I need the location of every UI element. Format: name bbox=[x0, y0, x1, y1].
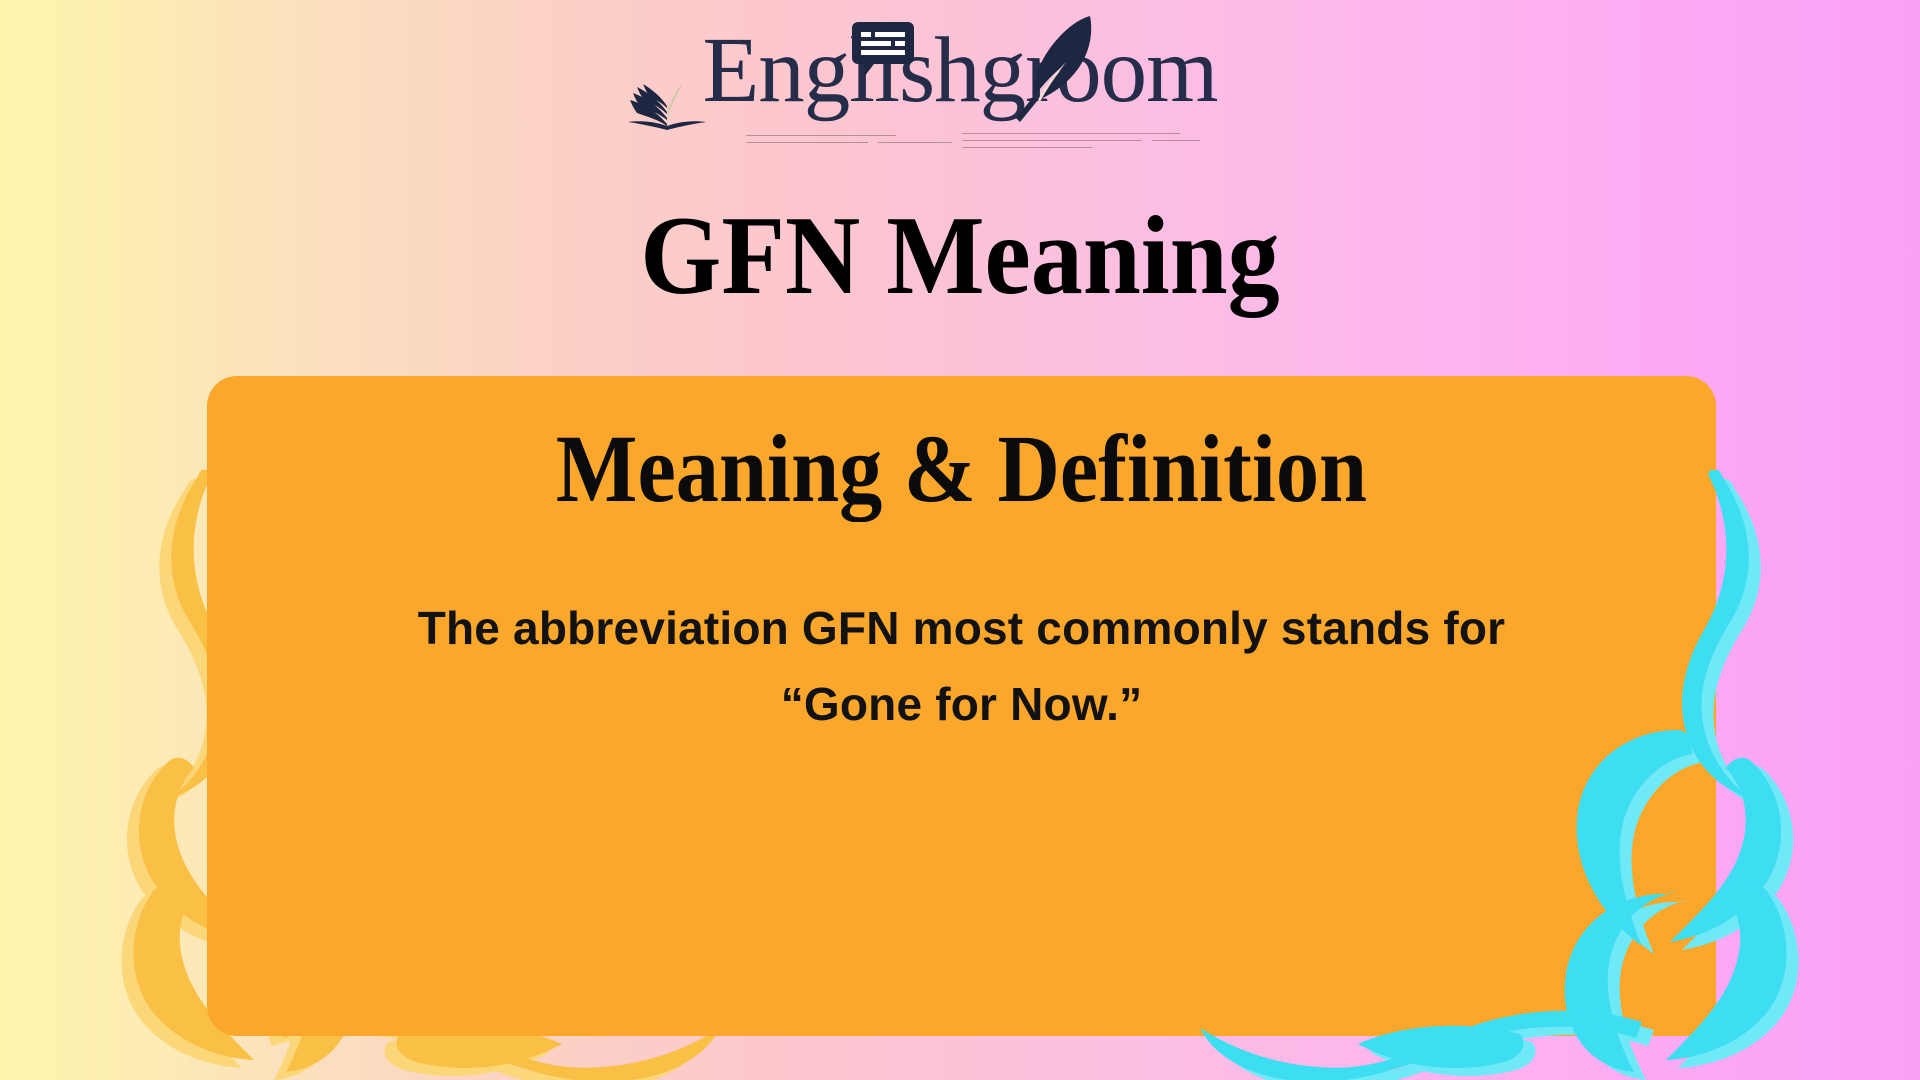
speech-bubble-icon bbox=[852, 22, 914, 77]
wordmark-underline-5 bbox=[962, 140, 1142, 141]
card-heading: Meaning & Definition bbox=[282, 414, 1640, 524]
card-body-text: The abbreviation GFN most commonly stand… bbox=[387, 590, 1536, 742]
page-title: GFN Meaning bbox=[67, 196, 1853, 316]
brand-logo[interactable]: Englishgroom bbox=[0, 8, 1920, 158]
wordmark-underline-7 bbox=[962, 147, 1092, 148]
wordmark-underline-1 bbox=[746, 135, 896, 136]
brand-wordmark: Englishgroom bbox=[620, 16, 1300, 126]
wordmark-underline-6 bbox=[1152, 140, 1200, 141]
definition-card: Meaning & Definition The abbreviation GF… bbox=[207, 376, 1716, 1036]
slide-canvas: Englishgroom bbox=[0, 0, 1920, 1080]
wordmark-underline-3 bbox=[878, 142, 952, 143]
wordmark-underline-4 bbox=[962, 133, 1180, 134]
feather-quill-icon bbox=[1016, 14, 1098, 124]
open-book-icon bbox=[628, 78, 706, 130]
wordmark-underline-2 bbox=[746, 142, 868, 143]
